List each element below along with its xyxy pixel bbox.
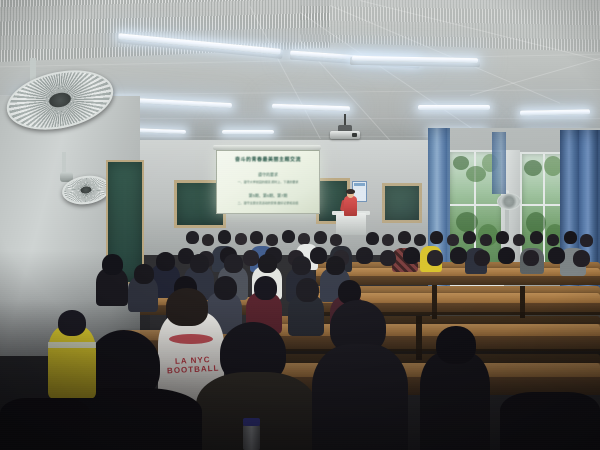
seated-audience (190, 254, 209, 273)
seated-audience (573, 250, 590, 267)
seated-audience (266, 234, 278, 246)
lectern (336, 213, 366, 235)
wall-fan-pillar-right (497, 193, 521, 210)
seated-audience (500, 392, 600, 450)
seated-audience (326, 256, 345, 275)
seated-audience (463, 231, 476, 244)
seated-audience (356, 247, 373, 264)
seated-audience (250, 231, 263, 244)
slide-line-4: 二、遵守主题交流活动的安排,做好记录和总结 (217, 201, 319, 205)
seated-audience (282, 230, 295, 243)
seated-audience (580, 234, 593, 247)
projection-screen: 奋斗的青春最美丽主题交流 遵守的要求 一、遵守大学校园的规定,按时上、下课的要求… (216, 150, 320, 214)
presenter-hair (346, 189, 355, 194)
seated-audience (564, 231, 577, 244)
attendee-white-hoodie-head (166, 288, 208, 326)
presenter (344, 196, 357, 216)
seated-audience (102, 254, 123, 275)
slide-line-1: 遵守的要求 (217, 172, 319, 178)
fluorescent-tube-light (222, 130, 274, 134)
seated-audience (202, 234, 214, 246)
seated-audience (420, 352, 490, 450)
seated-audience (547, 234, 559, 246)
seated-audience (480, 234, 492, 246)
fluorescent-tube-light (418, 105, 490, 110)
seated-audience (186, 231, 199, 244)
seated-audience (548, 247, 565, 264)
seated-audience (134, 264, 154, 284)
classroom-photo: 奋斗的青春最美丽主题交流 遵守的要求 一、遵守大学校园的规定,按时上、下课的要求… (0, 0, 600, 450)
slide-line-3: 第5期、第6期、第7期 (217, 193, 319, 199)
projector-lens (352, 133, 357, 137)
seated-audience (156, 252, 175, 271)
seated-audience (366, 232, 379, 245)
seated-audience (254, 276, 277, 300)
seated-audience (224, 254, 243, 273)
seated-audience (243, 250, 259, 266)
attendee-foreground-dark (312, 344, 408, 450)
water-bottle-cap (243, 418, 260, 426)
seated-audience (414, 234, 426, 246)
seated-audience (513, 234, 525, 246)
seated-audience (430, 231, 443, 244)
seated-audience (382, 234, 394, 246)
slide-title: 奋斗的青春最美丽主题交流 (217, 156, 319, 163)
seated-audience (218, 230, 231, 244)
seated-audience (403, 247, 420, 264)
seated-audience (0, 398, 90, 450)
seated-audience (235, 233, 247, 245)
seated-audience (427, 250, 443, 266)
seated-audience (296, 278, 319, 302)
seated-audience (330, 234, 342, 246)
green-chalkboard-far-right (382, 183, 422, 223)
seated-audience (292, 256, 311, 275)
hoodie-graphic-text: LA NYC BOOTBALL (164, 354, 223, 375)
seated-audience (214, 276, 237, 300)
seated-audience (450, 247, 467, 264)
seated-audience (58, 310, 86, 336)
seated-audience (258, 254, 277, 273)
seated-audience (310, 247, 327, 264)
attendee-yellow-jacket (48, 326, 96, 398)
seated-audience (314, 231, 327, 244)
water-bottle (243, 424, 260, 450)
seated-audience (496, 231, 509, 244)
seated-audience (498, 247, 515, 264)
seated-audience (436, 326, 476, 364)
seated-audience (530, 231, 543, 244)
slide-line-2: 一、遵守大学校园的规定,按时上、下课的要求 (217, 180, 319, 184)
seated-audience (523, 250, 539, 266)
seated-audience (380, 250, 396, 266)
seated-audience (447, 234, 459, 246)
seated-audience (474, 250, 490, 266)
blue-curtain (492, 132, 506, 194)
seated-audience (398, 231, 411, 244)
